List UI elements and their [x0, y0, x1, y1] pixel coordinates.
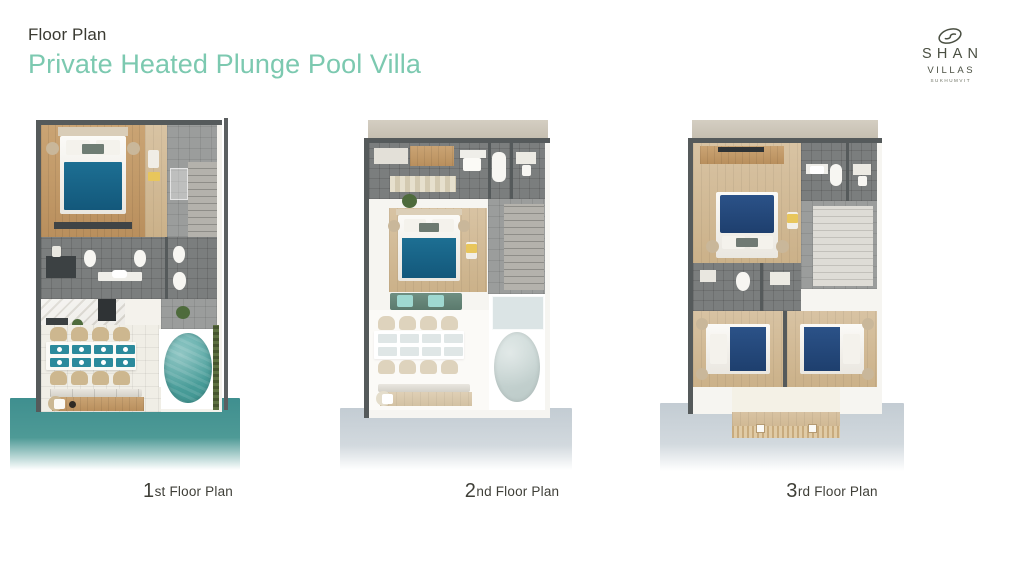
bed-duvet: [64, 162, 122, 210]
floor-plan-1-caption: 1st Floor Plan: [28, 480, 348, 503]
floor-plan-2-caption: 2nd Floor Plan: [352, 480, 672, 503]
floor-label: rd Floor Plan: [798, 484, 878, 499]
upper-terrace-floor: [145, 125, 167, 237]
void-over-pool: [494, 332, 540, 402]
floor-2-footprint: [364, 138, 550, 418]
slide-header: Floor Plan Private Heated Plunge Pool Vi…: [28, 24, 421, 82]
page-eyebrow: Floor Plan: [28, 24, 421, 45]
stair-treads: [732, 426, 840, 438]
garden-hedge: [213, 325, 219, 410]
brand-logo: SHAN VILLAS SUKHUMVIT: [904, 28, 996, 84]
roof-terrace-slab: [732, 387, 840, 412]
floor-3-footprint: [688, 138, 882, 414]
floor-label: nd Floor Plan: [476, 484, 559, 499]
logo-brand-name: SHAN: [904, 47, 996, 62]
staircase-2: [504, 204, 544, 290]
floor-plan-gallery: 1st Floor Plan: [0, 118, 1024, 528]
wc-fixture: [84, 250, 96, 267]
area-rug: [390, 176, 456, 192]
floor-plan-1[interactable]: 1st Floor Plan: [28, 118, 348, 528]
logo-line-villas: VILLAS: [904, 66, 996, 76]
floor-plan-3-caption: 3rd Floor Plan: [672, 480, 992, 503]
roof-overhang-3: [692, 120, 878, 138]
floor-plan-2[interactable]: 2nd Floor Plan: [352, 118, 672, 528]
roof-overhang-2: [368, 120, 548, 138]
boundary-wall: [224, 118, 228, 410]
floor-label: st Floor Plan: [155, 484, 233, 499]
floor-plan-1-render: [28, 118, 348, 468]
floor-plan-2-render: [352, 118, 672, 468]
floor-1-footprint: [36, 120, 222, 412]
plunge-pool: [164, 333, 212, 403]
powder-room-wc: [173, 246, 185, 263]
floor-plan-3[interactable]: 3rd Floor Plan: [672, 118, 992, 528]
timber-deck: [52, 397, 144, 411]
page-title: Private Heated Plunge Pool Villa: [28, 47, 421, 82]
logo-line-location: SUKHUMVIT: [904, 79, 996, 84]
bed-headboard-3: [720, 195, 774, 233]
bathtub-2: [492, 152, 506, 182]
shan-leaf-mark-icon: [937, 28, 963, 44]
floor-number: 3: [786, 480, 798, 502]
floor-plan-3-render: [672, 118, 992, 468]
floor-number: 2: [465, 480, 477, 502]
floor-number: 1: [143, 480, 155, 502]
staircase-3: [813, 206, 873, 286]
